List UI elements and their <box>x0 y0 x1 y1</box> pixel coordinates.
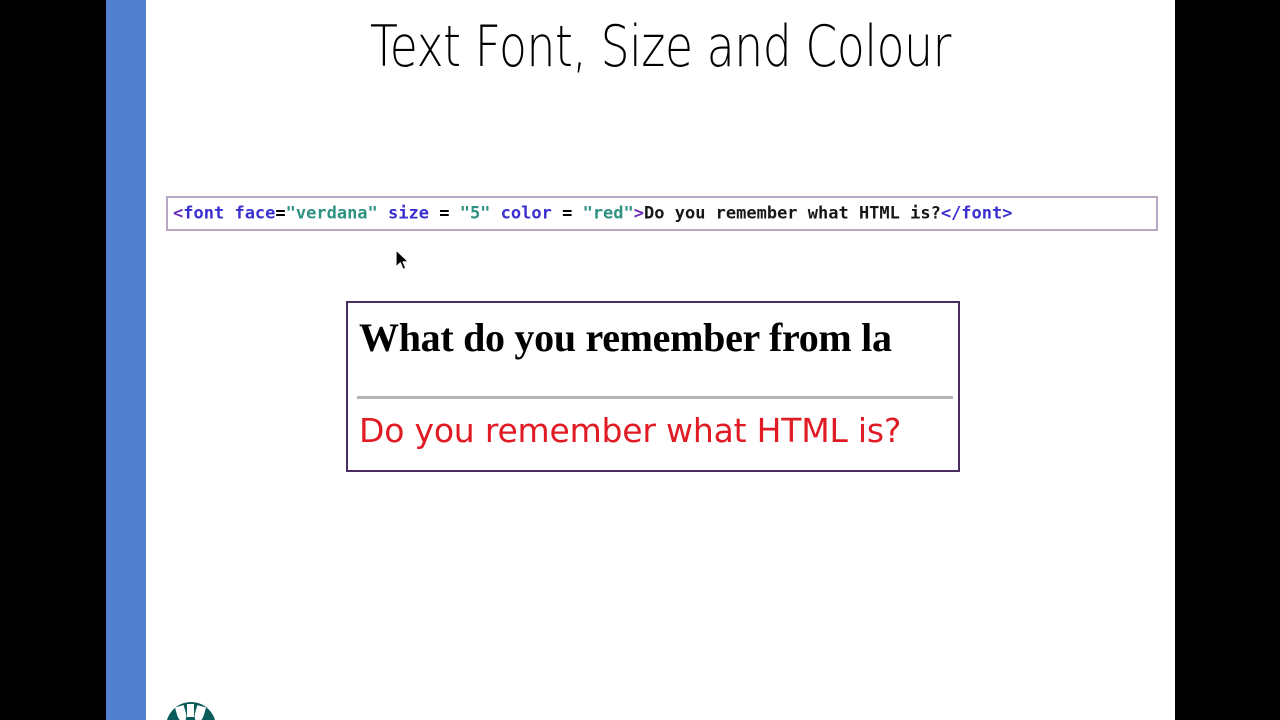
code-value-color: "red" <box>583 203 634 223</box>
code-space-3 <box>490 203 500 223</box>
code-space-1 <box>224 203 234 223</box>
screen-root: Text Font, Size and Colour <font face="v… <box>0 0 1280 720</box>
page-title: Text Font, Size and Colour <box>249 18 1072 78</box>
code-snippet-line: <font face="verdana" size = "5" color = … <box>173 205 1012 222</box>
code-attr-size: size <box>388 203 429 223</box>
code-space-2 <box>378 203 388 223</box>
preview-horizontal-rule <box>357 396 953 399</box>
code-attr-face: face <box>234 203 275 223</box>
code-equals-1: = <box>275 203 285 223</box>
code-snippet-box[interactable]: <font face="verdana" size = "5" color = … <box>166 196 1158 231</box>
code-inner-text: Do you remember what HTML is? <box>644 203 941 223</box>
institution-crest-logo <box>166 702 216 720</box>
preview-body-text: Do you remember what HTML is? <box>359 411 901 451</box>
code-tag-name: font <box>183 203 224 223</box>
code-equals-3: = <box>552 203 583 223</box>
preview-heading: What do you remember from la <box>359 315 892 361</box>
code-value-size: "5" <box>460 203 491 223</box>
code-equals-2: = <box>429 203 460 223</box>
code-value-face: "verdana" <box>286 203 378 223</box>
slide-accent-strip <box>106 0 146 720</box>
code-closing-tag: </font> <box>941 203 1013 223</box>
crest-right-shape <box>193 705 206 720</box>
crest-center-shape <box>187 704 194 717</box>
code-attr-color: color <box>501 203 552 223</box>
slide-canvas: Text Font, Size and Colour <font face="v… <box>146 0 1175 720</box>
code-open-bracket: < <box>173 203 183 223</box>
browser-preview-box[interactable]: What do you remember from la Do you reme… <box>346 301 960 472</box>
code-close-bracket: > <box>634 203 644 223</box>
